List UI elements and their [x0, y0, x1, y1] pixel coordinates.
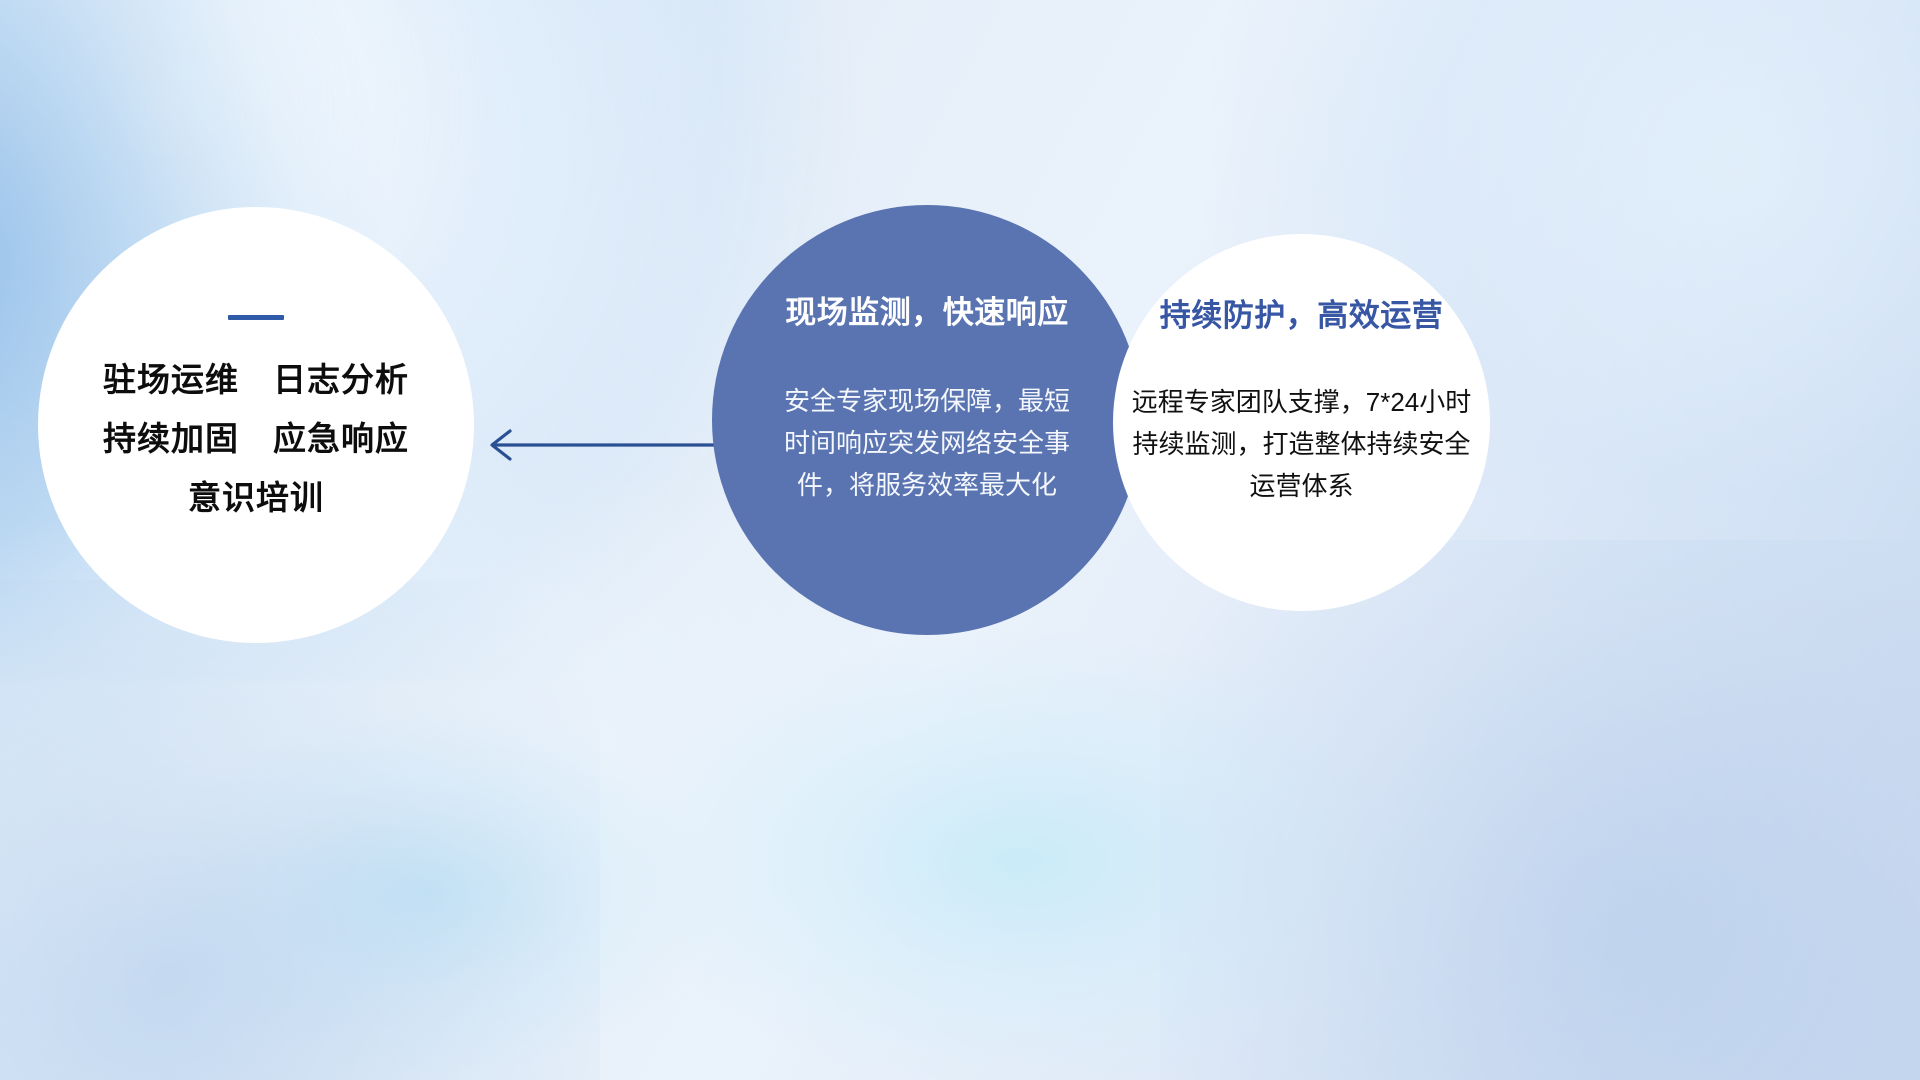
middle-circle-body: 安全专家现场保障，最短时间响应突发网络安全事件，将服务效率最大化 — [784, 380, 1070, 506]
right-circle-body: 远程专家团队支撑，7*24小时持续监测，打造整体持续安全运营体系 — [1132, 381, 1472, 507]
capability-line-2: 持续加固 应急响应 — [103, 421, 409, 458]
capability-line-3: 意识培训 — [188, 480, 324, 517]
capability-list: 驻场运维 日志分析 持续加固 应急响应 意识培训 — [103, 362, 409, 517]
left-capability-circle[interactable]: 驻场运维 日志分析 持续加固 应急响应 意识培训 — [38, 207, 474, 643]
middle-onsite-monitoring-circle[interactable]: 现场监测，快速响应 安全专家现场保障，最短时间响应突发网络安全事件，将服务效率最… — [712, 205, 1142, 635]
right-circle-heading: 持续防护，高效运营 — [1160, 290, 1444, 335]
capability-line-1: 驻场运维 日志分析 — [103, 362, 409, 399]
slide-canvas: 驻场运维 日志分析 持续加固 应急响应 意识培训 现场监测，快速响应 安全专家现… — [0, 0, 1920, 1080]
middle-circle-heading: 现场监测，快速响应 — [785, 287, 1069, 332]
background-glow-bottom-left — [0, 580, 600, 1080]
background-glow-bottom-right — [1160, 540, 1920, 1080]
right-continuous-protection-circle[interactable]: 持续防护，高效运营 远程专家团队支撑，7*24小时持续监测，打造整体持续安全运营… — [1113, 234, 1490, 611]
dash-divider-icon — [228, 315, 284, 320]
